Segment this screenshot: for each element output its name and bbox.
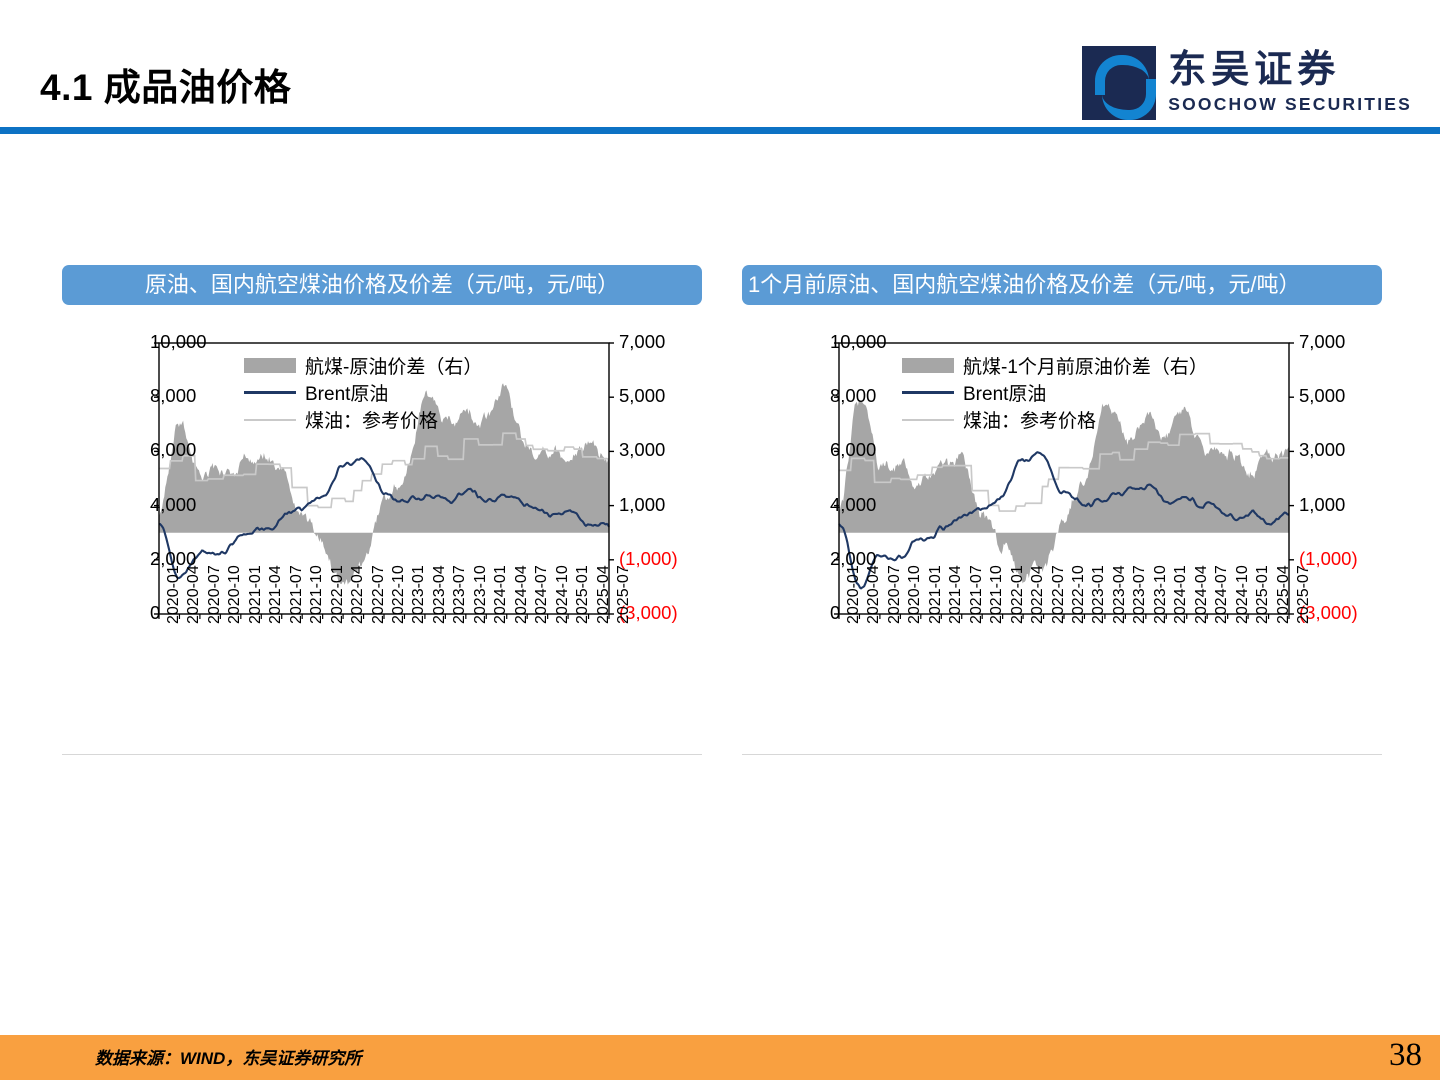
x-axis-label: 2022-07 xyxy=(370,565,388,624)
logo-name-en: SOOCHOW SECURITIES xyxy=(1168,94,1412,115)
chart-plot-1: 02,0004,0006,0008,00010,000(3,000)(1,000… xyxy=(62,316,702,754)
x-axis-label: 2021-10 xyxy=(988,565,1006,624)
legend-swatch-icon xyxy=(902,419,954,421)
x-axis-label: 2021-01 xyxy=(247,565,265,624)
legend-item: 航煤-原油价差（右） xyxy=(244,352,482,379)
x-axis-label: 2023-04 xyxy=(431,565,449,624)
x-axis-label: 2022-07 xyxy=(1050,565,1068,624)
legend-item: 航煤-1个月前原油价差（右） xyxy=(902,352,1208,379)
x-axis-label: 2020-07 xyxy=(206,565,224,624)
y2-axis-label: 5,000 xyxy=(619,385,665,407)
x-axis-label: 2021-10 xyxy=(308,565,326,624)
chart-body-1: 02,0004,0006,0008,00010,000(3,000)(1,000… xyxy=(62,316,702,755)
page-number: 38 xyxy=(1389,1037,1422,1074)
legend-swatch-icon xyxy=(244,391,296,394)
chart-title-1: 原油、国内航空煤油价格及价差（元/吨，元/吨） xyxy=(62,265,702,305)
x-axis-label: 2023-10 xyxy=(472,565,490,624)
legend-label: Brent原油 xyxy=(305,379,388,406)
x-axis-label: 2023-01 xyxy=(410,565,428,624)
y2-axis-label: 7,000 xyxy=(1299,331,1345,353)
x-axis-label: 2022-01 xyxy=(1009,565,1027,624)
x-axis-label: 2022-04 xyxy=(349,565,367,624)
chart-plot-2: 02,0004,0006,0008,00010,000(3,000)(1,000… xyxy=(742,316,1382,754)
y2-axis-label: 5,000 xyxy=(1299,385,1345,407)
source-note: 数据来源：WIND，东吴证券研究所 xyxy=(95,1044,361,1069)
x-axis-label: 2023-01 xyxy=(1090,565,1108,624)
x-axis-label: 2020-01 xyxy=(165,565,183,624)
x-axis-label: 2022-10 xyxy=(390,565,408,624)
x-axis-label: 2020-04 xyxy=(185,565,203,624)
x-axis-label: 2020-01 xyxy=(845,565,863,624)
x-axis-label: 2023-07 xyxy=(1131,565,1149,624)
x-axis-label: 2023-10 xyxy=(1152,565,1170,624)
chart-legend: 航煤-原油价差（右）Brent原油煤油：参考价格 xyxy=(244,352,482,433)
y2-axis-label: 3,000 xyxy=(619,439,665,461)
x-axis-label: 2020-10 xyxy=(906,565,924,624)
x-axis-label: 2024-04 xyxy=(513,565,531,624)
legend-item: Brent原油 xyxy=(244,379,482,406)
x-axis-label: 2022-10 xyxy=(1070,565,1088,624)
x-axis-label: 2025-04 xyxy=(1275,565,1293,624)
y2-axis-label: 3,000 xyxy=(1299,439,1345,461)
logo-name-cn: 东吴证券 xyxy=(1168,51,1412,91)
x-axis-label: 2025-04 xyxy=(595,565,613,624)
y2-axis-label: 1,000 xyxy=(619,494,665,516)
chart-panel-spread-current: 原油、国内航空煤油价格及价差（元/吨，元/吨） 02,0004,0006,000… xyxy=(62,265,702,755)
soochow-securities-logo: 东吴证券 SOOCHOW SECURITIES xyxy=(1082,46,1412,120)
legend-item: 煤油：参考价格 xyxy=(902,406,1208,433)
x-axis-label: 2025-01 xyxy=(1254,565,1272,624)
x-axis-label: 2023-07 xyxy=(451,565,469,624)
page-title: 4.1 成品油价格 xyxy=(40,57,291,111)
x-axis-label: 2025-07 xyxy=(615,565,633,624)
x-axis-label: 2025-01 xyxy=(574,565,592,624)
x-axis-label: 2021-07 xyxy=(968,565,986,624)
y2-axis-label: 7,000 xyxy=(619,331,665,353)
x-axis-label: 2024-07 xyxy=(1213,565,1231,624)
logo-mark-icon xyxy=(1082,46,1156,120)
chart-body-2: 02,0004,0006,0008,00010,000(3,000)(1,000… xyxy=(742,316,1382,755)
header-divider xyxy=(0,127,1440,134)
logo-text: 东吴证券 SOOCHOW SECURITIES xyxy=(1168,51,1412,115)
legend-label: 航煤-原油价差（右） xyxy=(305,352,482,379)
x-axis-label: 2022-01 xyxy=(329,565,347,624)
chart-legend: 航煤-1个月前原油价差（右）Brent原油煤油：参考价格 xyxy=(902,352,1208,433)
x-axis-label: 2024-10 xyxy=(1234,565,1252,624)
legend-swatch-icon xyxy=(244,358,296,373)
legend-item: 煤油：参考价格 xyxy=(244,406,482,433)
x-axis-label: 2021-07 xyxy=(288,565,306,624)
y2-axis-label: 1,000 xyxy=(1299,494,1345,516)
chart-title-2: 1个月前原油、国内航空煤油价格及价差（元/吨，元/吨） xyxy=(742,265,1382,305)
x-axis-label: 2021-04 xyxy=(947,565,965,624)
x-axis-label: 2024-04 xyxy=(1193,565,1211,624)
chart-panel-spread-1m-ago: 1个月前原油、国内航空煤油价格及价差（元/吨，元/吨） 02,0004,0006… xyxy=(742,265,1382,755)
legend-swatch-icon xyxy=(244,419,296,421)
x-axis-label: 2020-10 xyxy=(226,565,244,624)
x-axis-label: 2021-04 xyxy=(267,565,285,624)
legend-label: Brent原油 xyxy=(963,379,1046,406)
legend-item: Brent原油 xyxy=(902,379,1208,406)
legend-swatch-icon xyxy=(902,391,954,394)
x-axis-label: 2024-01 xyxy=(492,565,510,624)
legend-swatch-icon xyxy=(902,358,954,373)
legend-label: 航煤-1个月前原油价差（右） xyxy=(963,352,1208,379)
x-axis-label: 2024-01 xyxy=(1172,565,1190,624)
legend-label: 煤油：参考价格 xyxy=(963,406,1096,433)
legend-label: 煤油：参考价格 xyxy=(305,406,438,433)
x-axis-label: 2022-04 xyxy=(1029,565,1047,624)
x-axis-label: 2023-04 xyxy=(1111,565,1129,624)
x-axis-label: 2020-07 xyxy=(886,565,904,624)
x-axis-label: 2024-10 xyxy=(554,565,572,624)
x-axis-label: 2024-07 xyxy=(533,565,551,624)
x-axis-label: 2021-01 xyxy=(927,565,945,624)
x-axis-label: 2020-04 xyxy=(865,565,883,624)
x-axis-label: 2025-07 xyxy=(1295,565,1313,624)
